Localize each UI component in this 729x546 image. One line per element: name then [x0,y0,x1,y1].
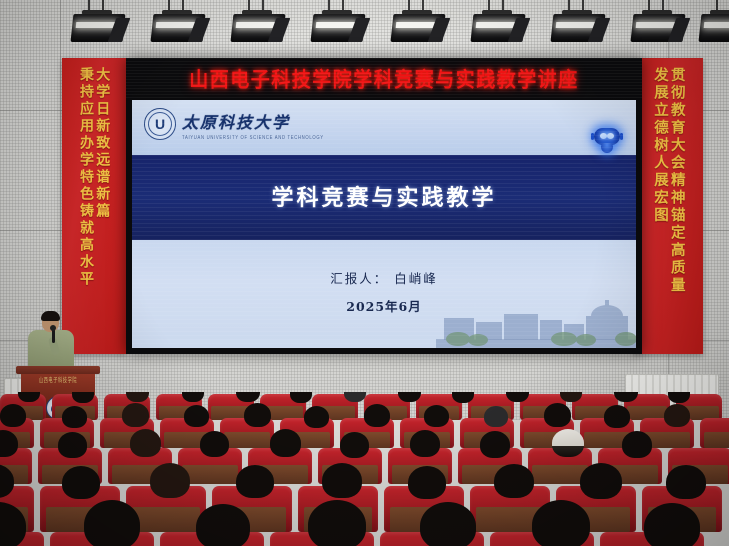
microphone-icon [50,325,56,331]
audience-head [200,431,229,457]
audience-head [494,464,534,498]
audience-head [424,405,449,427]
audience-head [58,432,87,458]
audience-head [364,404,390,427]
stage-light-icon [472,14,524,44]
audience-head [420,502,476,546]
audience-head [532,500,590,546]
audience-head [270,429,301,457]
audience-head [580,463,622,499]
audience-head [322,463,362,498]
speaker-person [22,313,88,369]
red-couplet-banner-right: 贯彻教育大会精神锚定高质量 发展立德树人展宏图 [633,58,703,354]
presentation-slide: U 太原科技大学 TAIYUAN UNIVERSITY OF SCIENCE A… [132,100,636,348]
audience-head [604,405,630,428]
couplet-left-line1: 大学日新致远谱新篇 [95,67,109,345]
university-seal-icon: U [144,108,176,140]
audience-head [408,466,446,499]
audience-head [290,392,312,403]
podium-text: 山西电子科技学院 [21,376,95,385]
audience-head [0,404,26,427]
led-banner: 山西电子科技学院学科竞赛与实践教学讲座 [126,58,642,98]
couplet-left-line2: 秉持应用办学特色铸就高水平 [79,67,93,345]
stage-light-icon [312,14,364,44]
audience-head [410,430,440,457]
audience-head [308,500,366,546]
audience-head [484,406,508,427]
audience-seating [0,392,729,546]
couplet-right-line1: 贯彻教育大会精神锚定高质量 [669,67,684,345]
audience-head [666,465,706,499]
audience-head [62,466,100,499]
stage-light-rail [0,0,729,58]
audience-head [664,404,690,427]
audience-head [122,403,149,427]
stage-light-icon [552,14,604,44]
audience-head [236,465,274,498]
audience-head [196,504,250,546]
university-seal-letter: U [155,117,165,131]
slide-presenter: 汇报人： 白峭峰 [132,268,636,287]
audience-head [184,405,209,427]
audience-head [244,403,271,427]
audience-head-with-cap [552,429,584,457]
audience-head [150,463,190,498]
stage-light-icon [700,14,729,44]
slide-title: 学科竞赛与实践教学 [132,180,636,212]
university-name-en: TAIYUAN UNIVERSITY OF SCIENCE AND TECHNO… [182,134,324,141]
audience-head [544,403,571,427]
stage-light-icon [392,14,444,44]
stage-screen: 山西电子科技学院学科竞赛与实践教学讲座 U 太原科技大学 TAIYUAN UNI… [126,58,642,354]
red-couplet-banner-left: 大学日新致远谱新篇 秉持应用办学特色铸就高水平 [62,58,126,354]
led-banner-text: 山西电子科技学院学科竞赛与实践教学讲座 [189,63,579,92]
audience-head [480,431,510,458]
stage-light-icon [232,14,284,44]
audience-head [344,392,366,402]
stage-light-icon [72,14,124,44]
audience-head [236,392,260,402]
audience-head [340,432,369,458]
lecture-hall-photo: 大学日新致远谱新篇 秉持应用办学特色铸就高水平 贯彻教育大会精神锚定高质量 发展… [0,0,729,546]
couplet-right-line2: 发展立德树人展宏图 [652,67,667,345]
audience-head [84,500,140,546]
campus-skyline-icon [436,296,636,348]
robot-mascot-icon [592,128,622,156]
stage-light-icon [632,14,684,44]
audience-head [62,406,87,428]
university-logo: U 太原科技大学 TAIYUAN UNIVERSITY OF SCIENCE A… [144,108,324,140]
audience-head [304,406,329,428]
stage-light-icon [152,14,204,44]
audience-head [130,429,161,457]
audience-head [622,431,652,458]
audience-head [644,503,700,546]
university-name-cn: 太原科技大学 [182,109,324,133]
